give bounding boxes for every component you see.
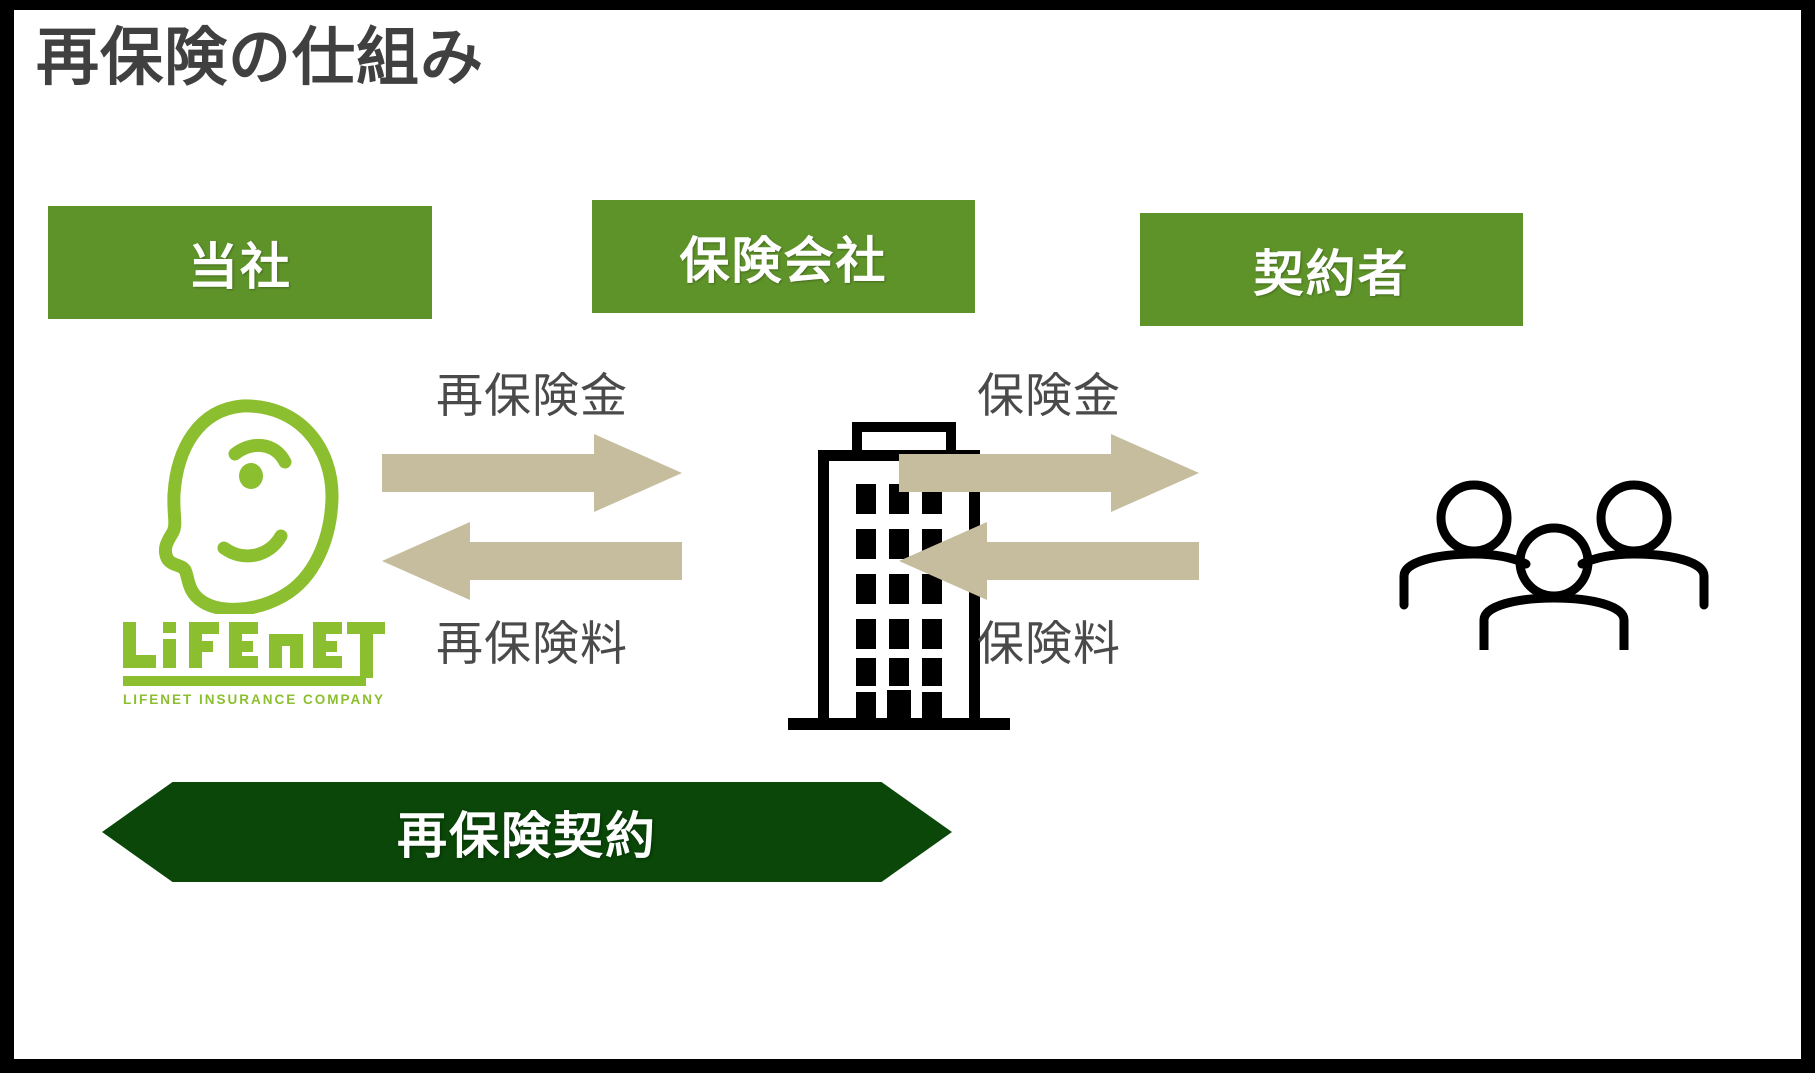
arrow-right-icon	[899, 434, 1199, 512]
slide-frame: 再保険の仕組み 当社 保険会社 契約者	[0, 0, 1815, 1073]
flow-label-bottom: 保険料	[899, 618, 1199, 670]
page-title: 再保険の仕組み	[36, 22, 484, 94]
column-header-policyholder: 契約者	[1140, 213, 1523, 326]
arrow-right-icon	[382, 434, 682, 512]
flow-label-bottom: 再保険料	[382, 618, 682, 670]
lifenet-logo: LIFENET INSURANCE COMPANY	[119, 396, 389, 736]
lifenet-wordmark	[119, 618, 389, 690]
lifenet-tagline: LIFENET INSURANCE COMPANY	[119, 692, 389, 707]
smiling-face-logo-icon	[147, 396, 357, 614]
arrow-left-icon	[382, 522, 682, 600]
contract-banner-label: 再保険契約	[102, 782, 952, 882]
arrow-pair	[382, 434, 682, 604]
people-group-icon	[1384, 470, 1724, 650]
arrow-pair	[899, 434, 1199, 604]
column-header-insurance-company: 保険会社	[592, 200, 975, 313]
flow-primary-insurance: 保険金 保険料	[899, 370, 1199, 669]
column-header-label: 当社	[188, 227, 292, 299]
flow-label-top: 再保険金	[382, 370, 682, 422]
column-header-label: 保険会社	[680, 221, 888, 293]
flow-label-top: 保険金	[899, 370, 1199, 422]
column-header-label: 契約者	[1254, 234, 1410, 306]
arrow-left-icon	[899, 522, 1199, 600]
flow-reinsurance: 再保険金 再保険料	[382, 370, 682, 669]
contract-banner: 再保険契約	[102, 782, 952, 882]
slide-canvas: 再保険の仕組み 当社 保険会社 契約者	[14, 10, 1801, 1059]
column-header-our-company: 当社	[48, 206, 432, 319]
